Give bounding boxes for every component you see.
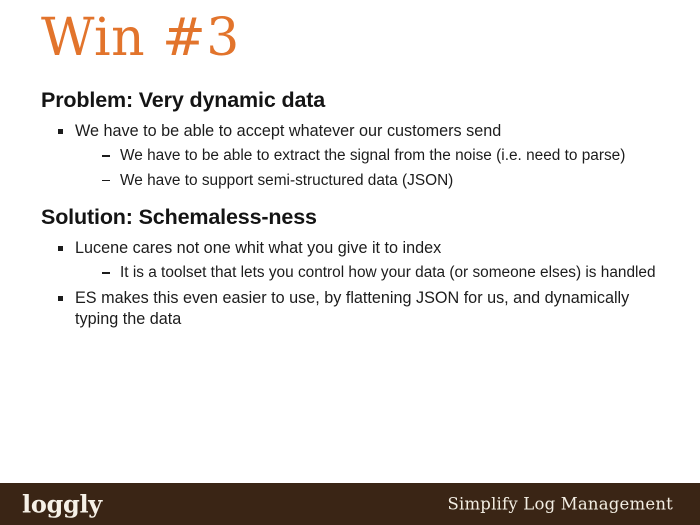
bullet-list-level2: It is a toolset that lets you control ho… xyxy=(92,263,659,283)
content-section: Problem: Very dynamic dataWe have to be … xyxy=(41,88,659,191)
list-item: Lucene cares not one whit what you give … xyxy=(41,238,659,284)
dash-bullet-icon xyxy=(102,180,110,182)
list-item: ES makes this even easier to use, by fla… xyxy=(41,288,659,331)
dash-bullet-icon xyxy=(102,155,110,157)
loggly-logo: loggly xyxy=(22,490,102,519)
square-bullet-icon xyxy=(58,296,63,301)
list-item-text: ES makes this even easier to use, by fla… xyxy=(75,288,659,331)
square-bullet-icon xyxy=(58,246,63,251)
list-item-text: We have to support semi-structured data … xyxy=(120,171,659,191)
list-item: It is a toolset that lets you control ho… xyxy=(92,263,659,283)
section-heading: Solution: Schemaless-ness xyxy=(41,205,659,231)
slide-canvas: Win #3 Problem: Very dynamic dataWe have… xyxy=(0,0,700,525)
list-item: We have to be able to accept whatever ou… xyxy=(41,121,659,191)
footer-bar: loggly Simplify Log Management xyxy=(0,483,700,525)
square-bullet-icon xyxy=(58,129,63,134)
footer-tagline: Simplify Log Management xyxy=(447,495,673,514)
bullet-list-level1: Lucene cares not one whit what you give … xyxy=(41,238,659,331)
list-item-text: Lucene cares not one whit what you give … xyxy=(75,238,659,259)
dash-bullet-icon xyxy=(102,272,110,274)
content-section: Solution: Schemaless-nessLucene cares no… xyxy=(41,205,659,330)
list-item-text: We have to be able to accept whatever ou… xyxy=(75,121,659,142)
page-title: Win #3 xyxy=(41,11,240,66)
list-item: We have to be able to extract the signal… xyxy=(92,146,659,166)
list-item: We have to support semi-structured data … xyxy=(92,171,659,191)
list-item-text: It is a toolset that lets you control ho… xyxy=(120,263,659,283)
bullet-list-level1: We have to be able to accept whatever ou… xyxy=(41,121,659,191)
bullet-list-level2: We have to be able to extract the signal… xyxy=(92,146,659,191)
list-item-text: We have to be able to extract the signal… xyxy=(120,146,659,166)
section-heading: Problem: Very dynamic data xyxy=(41,88,659,114)
slide-body: Problem: Very dynamic dataWe have to be … xyxy=(41,88,659,334)
